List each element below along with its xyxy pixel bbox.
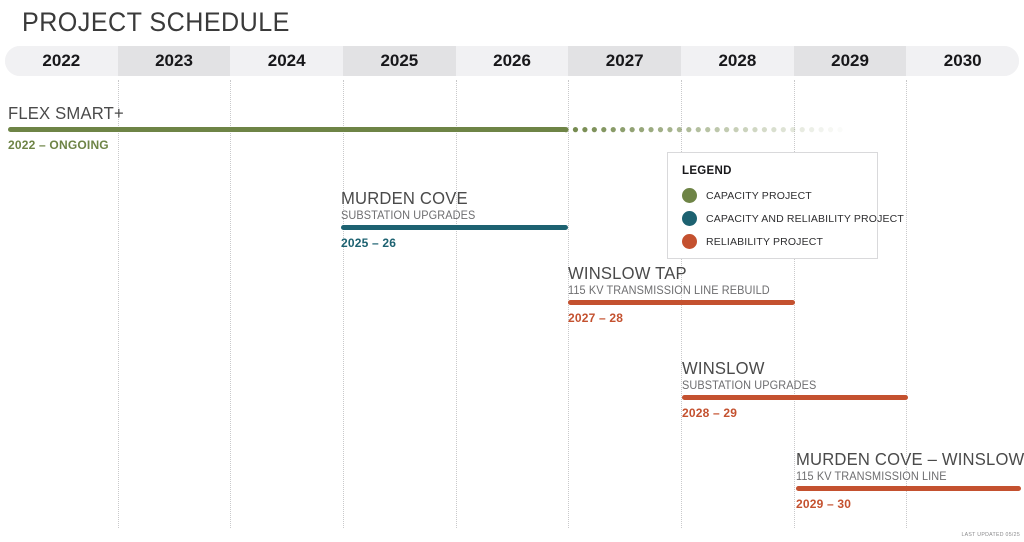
project-dates: 2029 – 30 <box>796 497 1024 511</box>
project-bar-ongoing-dots <box>563 127 843 132</box>
project-bar-container <box>568 300 795 306</box>
year-cell-2030: 2030 <box>906 46 1019 76</box>
project-bar <box>682 395 908 400</box>
project-name: MURDEN COVE – WINSLOW <box>796 449 1024 470</box>
last-updated-note: LAST UPDATED 05/25 <box>961 532 1020 538</box>
project-dates: 2022 – ONGOING <box>8 138 843 152</box>
legend-items: CAPACITY PROJECTCAPACITY AND RELIABILITY… <box>682 184 877 253</box>
project-subtitle: SUBSTATION UPGRADES <box>682 380 897 392</box>
project-bar <box>8 127 567 132</box>
legend-dot-capacity-icon <box>682 188 697 203</box>
project-dates: 2025 – 26 <box>341 236 568 250</box>
legend-item-label: CAPACITY AND RELIABILITY PROJECT <box>706 213 904 225</box>
legend-box: LEGEND CAPACITY PROJECTCAPACITY AND RELI… <box>667 152 878 259</box>
project-bar <box>341 225 568 230</box>
project-schedule-infographic: PROJECT SCHEDULE 20222023202420252026202… <box>0 0 1024 542</box>
project-bar-container <box>796 486 1021 492</box>
legend-dot-capacity-reliability-icon <box>682 211 697 226</box>
legend-dot-reliability-icon <box>682 234 697 249</box>
legend-item-label: RELIABILITY PROJECT <box>706 236 823 248</box>
project-bar-container <box>682 395 908 401</box>
project-subtitle: 115 KV TRANSMISSION LINE REBUILD <box>568 285 784 297</box>
legend-item: RELIABILITY PROJECT <box>682 230 877 253</box>
legend-item-label: CAPACITY PROJECT <box>706 190 812 202</box>
project-bar-container <box>8 127 843 133</box>
project-name: FLEX SMART+ <box>8 103 801 124</box>
legend-title: LEGEND <box>682 165 877 177</box>
project-subtitle: 115 KV TRANSMISSION LINE <box>796 471 1024 483</box>
year-cell-2023: 2023 <box>118 46 231 76</box>
project-name: WINSLOW <box>682 358 897 379</box>
project-row: MURDEN COVESUBSTATION UPGRADES2025 – 26 <box>341 188 568 250</box>
year-cell-2022: 2022 <box>5 46 118 76</box>
project-row: MURDEN COVE – WINSLOW115 KV TRANSMISSION… <box>796 449 1024 511</box>
project-subtitle: SUBSTATION UPGRADES <box>341 210 557 222</box>
project-bar <box>796 486 1021 491</box>
project-row: WINSLOW TAP115 KV TRANSMISSION LINE REBU… <box>568 263 795 325</box>
timeline-year-axis: 202220232024202520262027202820292030 <box>5 46 1019 76</box>
project-name: WINSLOW TAP <box>568 263 784 284</box>
project-row: WINSLOWSUBSTATION UPGRADES2028 – 29 <box>682 358 908 420</box>
year-cell-2029: 2029 <box>794 46 907 76</box>
year-cell-2026: 2026 <box>456 46 569 76</box>
year-cell-2028: 2028 <box>681 46 794 76</box>
page-title: PROJECT SCHEDULE <box>22 7 290 38</box>
project-bar-container <box>341 225 568 231</box>
year-cell-2025: 2025 <box>343 46 456 76</box>
project-dates: 2027 – 28 <box>568 311 795 325</box>
project-name: MURDEN COVE <box>341 188 557 209</box>
legend-item: CAPACITY PROJECT <box>682 184 877 207</box>
year-cell-2024: 2024 <box>230 46 343 76</box>
project-dates: 2028 – 29 <box>682 406 908 420</box>
legend-item: CAPACITY AND RELIABILITY PROJECT <box>682 207 877 230</box>
project-bar <box>568 300 795 305</box>
project-row: FLEX SMART+2022 – ONGOING <box>8 103 843 152</box>
year-cell-2027: 2027 <box>568 46 681 76</box>
